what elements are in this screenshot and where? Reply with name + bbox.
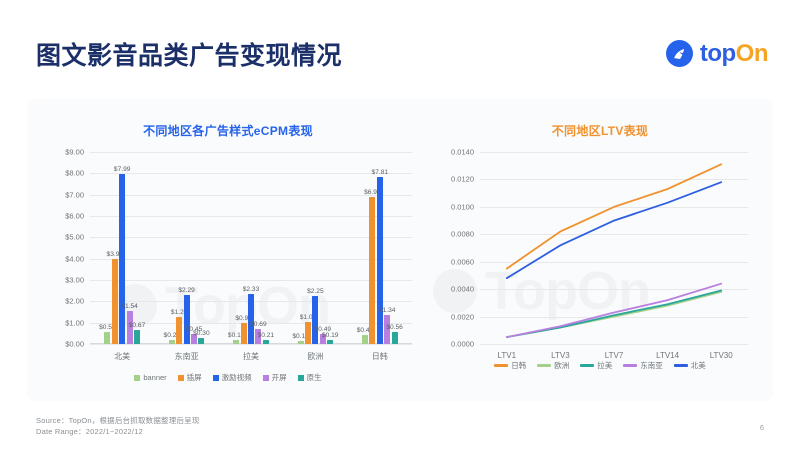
gridline [90, 237, 412, 238]
legend-item-激励视频[interactable]: 激励视频 [213, 372, 252, 383]
gridline [90, 259, 412, 260]
y-axis-tick: 0.0040 [451, 285, 474, 294]
y-axis-tick: 0.0020 [451, 312, 474, 321]
y-axis-tick: 0.0140 [451, 148, 474, 157]
bar-插屏-欧洲 [305, 322, 311, 344]
legend-item-日韩[interactable]: 日韩 [494, 360, 526, 371]
bar-插屏-拉美 [241, 323, 247, 344]
y-axis-tick: $4.00 [65, 254, 84, 263]
legend-label: 拉美 [597, 360, 612, 371]
bar-value-label: $2.33 [243, 286, 260, 293]
y-axis-tick: 0.0120 [451, 175, 474, 184]
legend-label: 东南亚 [640, 360, 663, 371]
bar-value-label: $0.19 [322, 332, 339, 339]
legend-swatch-icon [674, 364, 688, 367]
y-axis-tick: 0.0000 [451, 340, 474, 349]
legend-label: banner [143, 373, 166, 382]
legend-label: 北美 [691, 360, 706, 371]
bar-激励视频-北美 [119, 174, 125, 344]
bar-插屏-北美 [112, 259, 118, 344]
charts-card: TopOn TopOn 不同地区各广告样式eCPM表现 $0.00$1.00$2… [28, 100, 772, 400]
bar-banner-拉美 [233, 340, 239, 344]
bar-激励视频-拉美 [248, 294, 254, 344]
bar-原生-拉美 [263, 340, 269, 344]
page-number: 6 [760, 423, 764, 432]
topon-logo: topOn [666, 40, 768, 67]
line-series-北美 [507, 182, 721, 278]
x-axis-tick: 东南亚 [175, 351, 199, 362]
x-axis-tick: LTV30 [710, 351, 733, 360]
topon-arrow-icon [666, 40, 693, 67]
legend-item-原生[interactable]: 原生 [298, 372, 322, 383]
bar-value-label: $0.67 [129, 322, 146, 329]
gridline [90, 173, 412, 174]
ltv-plot-area: 0.00000.00200.00400.00600.00800.01000.01… [480, 152, 748, 344]
bar-banner-日韩 [362, 335, 368, 344]
legend-swatch-icon [580, 364, 594, 367]
date-range-line: Date Range：2022/1~2022/12 [36, 426, 200, 438]
x-axis-tick: LTV1 [498, 351, 517, 360]
gridline [90, 216, 412, 217]
bar-激励视频-东南亚 [184, 295, 190, 344]
bar-value-label: $7.81 [372, 169, 389, 176]
ecpm-legend: banner插屏激励视频开屏原生 [28, 372, 428, 383]
bar-插屏-东南亚 [176, 317, 182, 344]
ecpm-chart-panel: 不同地区各广告样式eCPM表现 $0.00$1.00$2.00$3.00$4.0… [28, 100, 428, 400]
bar-value-label: $2.25 [307, 288, 324, 295]
y-axis-tick: 0.0080 [451, 230, 474, 239]
legend-swatch-icon [298, 375, 304, 381]
legend-swatch-icon [178, 375, 184, 381]
bar-value-label: $7.99 [114, 166, 131, 173]
legend-item-开屏[interactable]: 开屏 [263, 372, 287, 383]
bar-value-label: $1.54 [121, 303, 138, 310]
bar-激励视频-欧洲 [312, 296, 318, 344]
bar-原生-日韩 [392, 332, 398, 344]
legend-label: 插屏 [187, 372, 202, 383]
y-axis-tick: 0.0060 [451, 257, 474, 266]
y-axis-tick: $3.00 [65, 276, 84, 285]
legend-label: 原生 [307, 372, 322, 383]
bar-插屏-日韩 [369, 197, 375, 344]
legend-item-banner[interactable]: banner [134, 373, 166, 382]
bar-value-label: $0.30 [193, 330, 210, 337]
line-series-日韩 [507, 164, 721, 268]
ecpm-plot-area: $0.00$1.00$2.00$3.00$4.00$5.00$6.00$7.00… [90, 152, 412, 344]
slide-header: 图文影音品类广告变现情况 topOn [0, 0, 800, 92]
legend-label: 开屏 [272, 372, 287, 383]
x-axis-tick: 拉美 [243, 351, 259, 362]
line-series-东南亚 [507, 284, 721, 337]
legend-swatch-icon [494, 364, 508, 367]
legend-item-拉美[interactable]: 拉美 [580, 360, 612, 371]
legend-swatch-icon [263, 375, 269, 381]
x-axis-tick: 日韩 [372, 351, 388, 362]
legend-item-欧洲[interactable]: 欧洲 [537, 360, 569, 371]
legend-label: 日韩 [511, 360, 526, 371]
x-axis-tick: 北美 [114, 351, 130, 362]
logo-text-top: top [700, 40, 736, 67]
bar-原生-欧洲 [327, 340, 333, 344]
bar-value-label: $0.21 [258, 332, 275, 339]
y-axis-tick: $7.00 [65, 190, 84, 199]
ltv-chart-title: 不同地区LTV表现 [428, 122, 772, 139]
bar-value-label: $1.34 [379, 307, 396, 314]
y-axis-tick: $1.00 [65, 318, 84, 327]
legend-swatch-icon [213, 375, 219, 381]
gridline [480, 344, 748, 345]
ltv-chart-panel: 不同地区LTV表现 0.00000.00200.00400.00600.0080… [428, 100, 772, 400]
bar-原生-北美 [134, 330, 140, 344]
bar-banner-北美 [104, 332, 110, 344]
bar-激励视频-日韩 [377, 177, 383, 344]
gridline [90, 280, 412, 281]
legend-item-插屏[interactable]: 插屏 [178, 372, 202, 383]
page-title: 图文影音品类广告变现情况 [36, 36, 342, 72]
x-axis-tick: LTV3 [551, 351, 570, 360]
logo-text-on: On [736, 40, 768, 67]
ltv-lines [480, 152, 748, 344]
y-axis-tick: $6.00 [65, 212, 84, 221]
slide-root: 图文影音品类广告变现情况 topOn TopOn TopOn [0, 0, 800, 450]
y-axis-tick: $0.00 [65, 340, 84, 349]
bar-value-label: $2.29 [178, 287, 195, 294]
y-axis-tick: 0.0100 [451, 202, 474, 211]
gridline [90, 152, 412, 153]
footer-note: Source：TopOn，根据后台抓取数据整理后呈现 Date Range：20… [36, 415, 200, 438]
y-axis-tick: $5.00 [65, 233, 84, 242]
legend-swatch-icon [537, 364, 551, 367]
x-axis-tick: LTV7 [605, 351, 624, 360]
legend-item-东南亚[interactable]: 东南亚 [623, 360, 663, 371]
bar-banner-东南亚 [169, 340, 175, 344]
y-axis-tick: $2.00 [65, 297, 84, 306]
legend-swatch-icon [134, 375, 140, 381]
bar-原生-东南亚 [198, 338, 204, 344]
x-axis-tick: 欧洲 [307, 351, 323, 362]
y-axis-tick: $8.00 [65, 169, 84, 178]
legend-item-北美[interactable]: 北美 [674, 360, 706, 371]
x-axis-tick: LTV14 [656, 351, 679, 360]
source-line: Source：TopOn，根据后台抓取数据整理后呈现 [36, 415, 200, 427]
y-axis-tick: $9.00 [65, 148, 84, 157]
legend-label: 激励视频 [222, 372, 252, 383]
ecpm-chart-title: 不同地区各广告样式eCPM表现 [28, 122, 428, 139]
bar-banner-欧洲 [298, 341, 304, 344]
bar-value-label: $0.56 [386, 324, 403, 331]
legend-label: 欧洲 [554, 360, 569, 371]
gridline [90, 344, 412, 345]
ltv-legend: 日韩欧洲拉美东南亚北美 [428, 360, 772, 371]
bar-value-label: $0.69 [250, 321, 267, 328]
legend-swatch-icon [623, 364, 637, 367]
